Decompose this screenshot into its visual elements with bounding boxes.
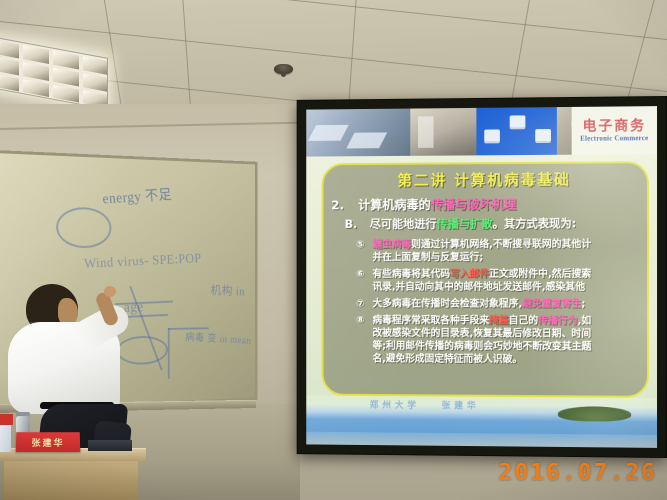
bullet-marker-6: ⑥ (356, 268, 372, 294)
banner-photo-keyboard (306, 109, 410, 157)
bullet-6-line1: 正文或附件中,然后搜索 (489, 269, 591, 280)
lectern-desk: 张建华 (0, 448, 146, 500)
slide-footer-text: 郑州大学 张建华 (370, 398, 480, 412)
bullet-item-7: ⑦ 大多病毒在传播时会检查对象程序,避免重复寄生; (356, 298, 647, 311)
footer-presenter: 张建华 (442, 401, 480, 411)
photograph-scene: energy 不足 Wind virus- SPE:POP age 机构 in … (0, 0, 667, 500)
bullet-item-5: ⑤ 蠕虫病毒则通过计算机网络,不断搜寻联网的其他计 并在上面复制与反复运行; (356, 238, 647, 264)
slide-footer-seascape: 郑州大学 张建华 (306, 395, 657, 447)
bullet-8-highlight-1: 掩盖 (489, 316, 509, 327)
bullet-6-pre: 有些病毒将其代码 (373, 269, 451, 280)
bullet-6-highlight: 写入邮件 (450, 269, 489, 280)
bullet-8-highlight-2: 传播行为 (538, 316, 577, 327)
bullet-8-pre: 病毒程序常采取各种手段来 (373, 315, 490, 326)
presentation-slide: 电子商务 Electronic Commerce 第二讲 计算机病毒基础 2. … (306, 106, 657, 448)
nameplate-text: 张建华 (31, 436, 64, 449)
bullet-marker-5: ⑤ (356, 239, 372, 265)
bullet-5-line2: 并在上面复制与反复运行; (373, 251, 592, 264)
projection-screen-frame: 电子商务 Electronic Commerce 第二讲 计算机病毒基础 2. … (297, 96, 667, 458)
bullet-text-6: 有些病毒将其代码写入邮件正文或附件中,然后搜索 讯录,并自动向其中的邮件地址发送… (373, 268, 592, 294)
slide-content-box: 第二讲 计算机病毒基础 2. 计算机病毒的传播与破坏机理 B. 尽可能地进行传播… (322, 161, 649, 398)
bullet-5-line1: 则通过计算机网络,不断搜寻联网的其他计 (411, 239, 591, 250)
camera-timestamp: 2016.07.26 (499, 460, 657, 486)
bullet-8-line2: 改被感染文件的目录表,恢复其最后修改日期、时间 (373, 327, 592, 341)
bullet-8-post: ,如 (578, 316, 592, 327)
bullet-marker-8: ⑧ (356, 314, 372, 365)
ceiling (0, 0, 667, 112)
footer-water-strip (306, 432, 657, 448)
presenter-hand-holding-marker (104, 286, 116, 297)
bullet-item-6: ⑥ 有些病毒将其代码写入邮件正文或附件中,然后搜索 讯录,并自动向其中的邮件地址… (356, 268, 647, 294)
desk-nameplate: 张建华 (16, 432, 81, 452)
bullet-8-line4: 名,避免形成固定特征而被人识破。 (373, 353, 592, 367)
bullet-item-8: ⑧ 病毒程序常采取各种手段来掩盖自己的传播行为,如 改被感染文件的目录表,恢复其… (356, 314, 647, 367)
bullet-text-5: 蠕虫病毒则通过计算机网络,不断搜寻联网的其他计 并在上面复制与反复运行; (373, 238, 592, 264)
bullet-text-8: 病毒程序常采取各种手段来掩盖自己的传播行为,如 改被感染文件的目录表,恢复其最后… (373, 314, 592, 366)
level3-highlight: 传播与扩散 (437, 217, 493, 231)
bullet-8-mid: 自己的 (509, 316, 538, 327)
level2-text: 计算机病毒的 (358, 197, 431, 212)
bullet-7-highlight: 避免重复寄生 (522, 299, 581, 310)
bullet-7-post: ; (581, 299, 585, 310)
footer-org: 郑州大学 (370, 401, 420, 411)
level3-post: 。其方式表现为: (493, 216, 577, 230)
whiteboard-circle-annotation-a (56, 207, 111, 249)
banner-photo-office (410, 108, 476, 156)
book-stack (88, 440, 132, 451)
course-logo-cn: 电子商务 (583, 119, 647, 134)
slide-heading-level2: 2. 计算机病毒的传播与破坏机理 (331, 193, 647, 213)
banner-photo-network-diagram (476, 107, 557, 155)
slide-heading-level3: B. 尽可能地进行传播与扩散。其方式表现为: (345, 215, 647, 232)
level3-pre: 尽可能地进行 (370, 217, 437, 231)
projection-screen-surface: 电子商务 Electronic Commerce 第二讲 计算机病毒基础 2. … (306, 106, 657, 448)
bullet-text-7: 大多病毒在传播时会检查对象程序,避免重复寄生; (373, 298, 586, 311)
level3-number: B. (345, 217, 358, 231)
bullet-5-highlight: 蠕虫病毒 (373, 240, 412, 251)
slide-bullet-list: ⑤ 蠕虫病毒则通过计算机网络,不断搜寻联网的其他计 并在上面复制与反复运行; ⑥… (356, 238, 647, 367)
course-logo-en: Electronic Commerce (580, 135, 648, 143)
bullet-8-line3: 等;利用邮件传播的病毒则会巧妙地不断改变其主题 (373, 340, 592, 354)
whiteboard-note-3: 机构 in (210, 280, 245, 299)
water-bottle-label (0, 414, 13, 425)
bullet-marker-7: ⑦ (356, 298, 372, 311)
desk-front-panel (4, 461, 138, 500)
whiteboard-stroke-box-side (168, 328, 170, 379)
course-logo: 电子商务 Electronic Commerce (572, 106, 657, 155)
bullet-6-line2: 讯录,并自动向其中的邮件地址发送邮件,感染其他 (373, 281, 592, 294)
level2-highlight: 传播与破坏机理 (431, 197, 516, 212)
bullet-7-pre: 大多病毒在传播时会检查对象程序, (373, 299, 523, 310)
footer-island-image (558, 406, 631, 422)
smoke-detector-nub (281, 72, 286, 77)
slide-banner: 电子商务 Electronic Commerce (306, 106, 657, 156)
level2-number: 2. (331, 198, 344, 213)
water-bottle (0, 422, 11, 452)
slide-title: 第二讲 计算机病毒基础 (323, 168, 647, 191)
